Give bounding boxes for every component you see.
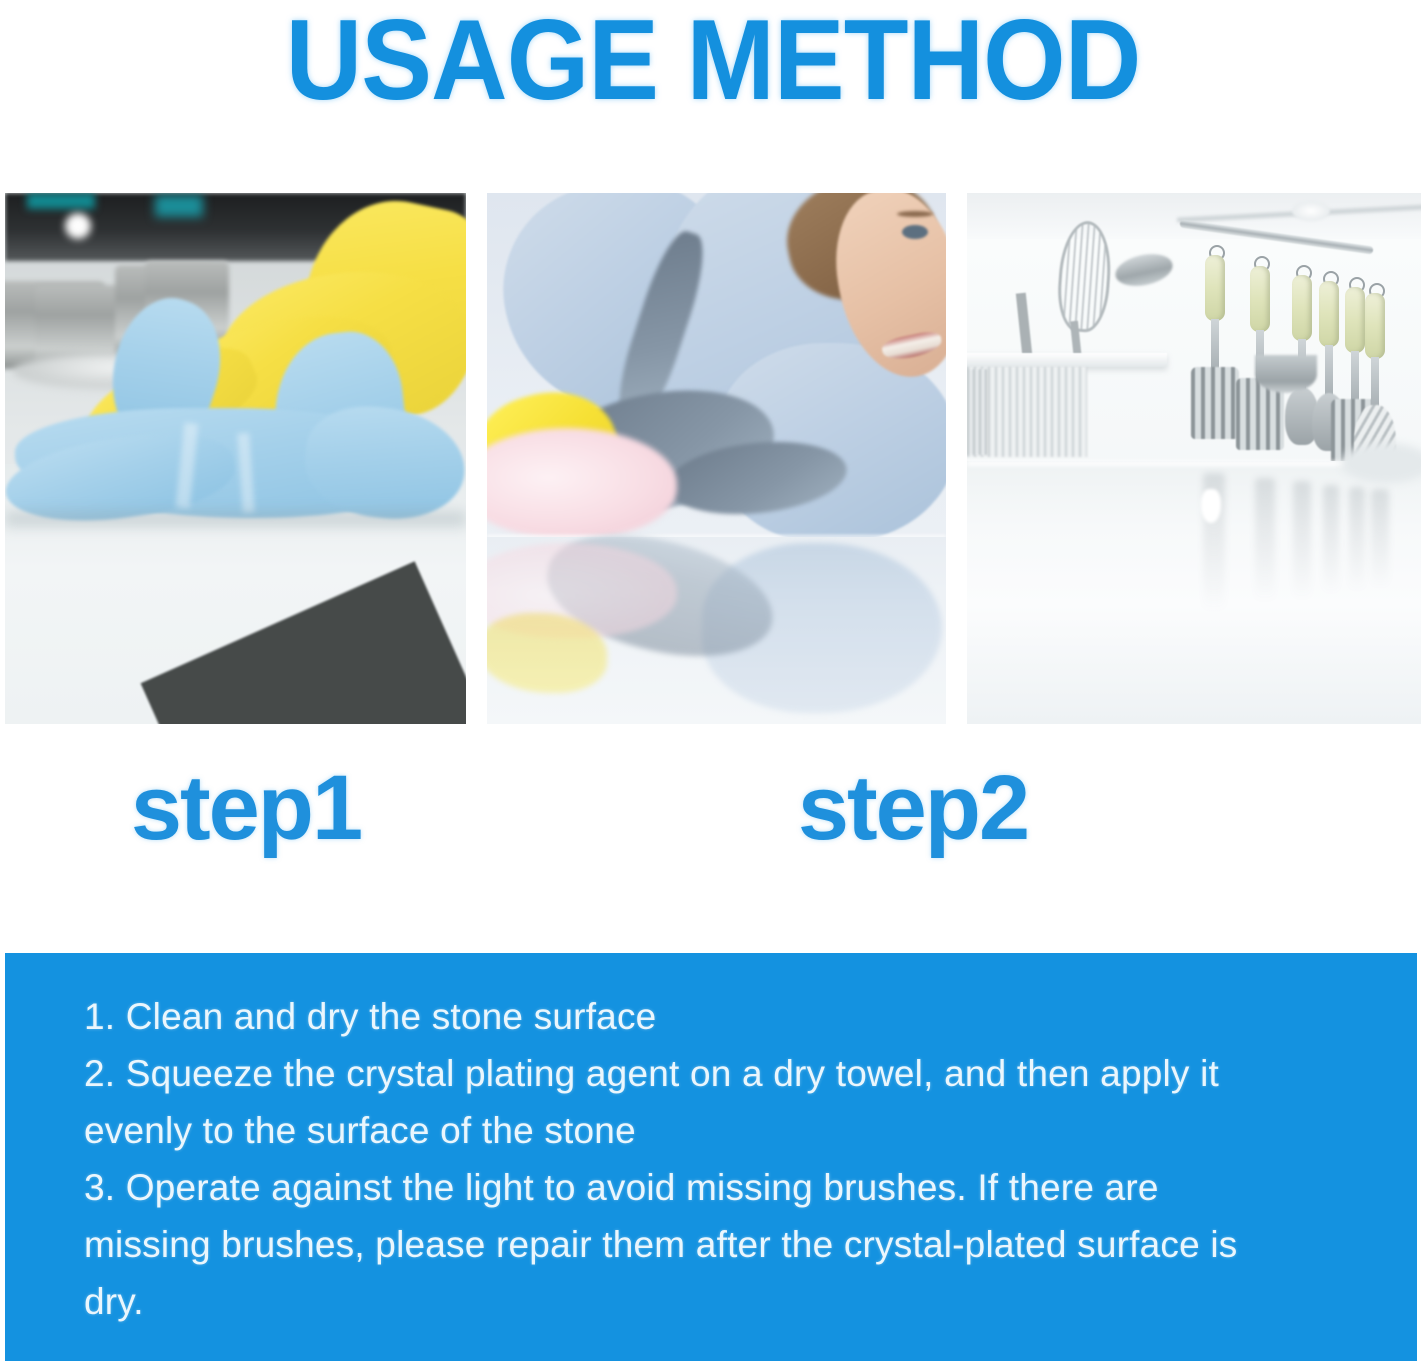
utensil-head: [1191, 367, 1239, 439]
utensil-reflection: [1293, 481, 1311, 601]
utensil-neck: [1371, 357, 1379, 409]
page-title: USAGE METHOD: [50, 0, 1376, 120]
utensil-holder-icon: [967, 369, 987, 455]
steps-photo-strip: [5, 193, 1421, 724]
photo-step1-wiping-counter-with-cloth: [5, 193, 466, 724]
instruction-line-4: 3. Operate against the light to avoid mi…: [84, 1159, 1347, 1216]
instruction-line-6: dry.: [84, 1273, 1347, 1330]
step-label-2: step2: [672, 752, 1209, 864]
utensil-handle: [1250, 266, 1270, 332]
utensil-neck: [1325, 345, 1333, 397]
utensil-handle: [1205, 255, 1225, 321]
instruction-line-1: 1. Clean and dry the stone surface: [84, 988, 1347, 1045]
utensil-neck: [1351, 351, 1359, 403]
strainer-icon: [1255, 355, 1317, 393]
countertop-glint: [1201, 489, 1221, 523]
utensil-handle: [1365, 293, 1385, 359]
utensil-handle: [1292, 275, 1312, 341]
utensil-reflection: [1323, 485, 1339, 595]
instruction-line-5: missing brushes, please repair them afte…: [84, 1216, 1347, 1273]
highlight-glare: [65, 213, 91, 239]
utensil-reflection: [1255, 478, 1275, 603]
utensil-reflection: [1371, 489, 1389, 589]
utensil-reflection: [1349, 487, 1365, 592]
photo-step3-finished-glossy-kitchen: [967, 193, 1421, 724]
counter-far-edge: [1341, 443, 1421, 483]
teal-appliance-accent-2-icon: [155, 195, 203, 217]
instruction-line-3: evenly to the surface of the stone: [84, 1102, 1347, 1159]
step-label-3: step3: [1209, 752, 1426, 864]
wall-shelf: [967, 353, 1167, 367]
downlight-icon: [1292, 201, 1330, 221]
photo-step2-applying-agent: [487, 193, 946, 724]
cloth-shadow: [5, 511, 466, 527]
utensil-neck: [1211, 319, 1219, 371]
step-labels-row: step1 step2 step3: [5, 752, 1421, 864]
slotted-spatula-icon: [967, 193, 1018, 275]
step-label-1: step1: [5, 752, 672, 864]
utensil-handle: [1319, 281, 1339, 347]
instruction-line-2: 2. Squeeze the crystal plating agent on …: [84, 1045, 1347, 1102]
instructions-panel: 1. Clean and dry the stone surface 2. Sq…: [5, 953, 1417, 1361]
teal-appliance-accent-icon: [27, 193, 95, 209]
utensil-handle: [1345, 287, 1365, 353]
eyebrow: [897, 211, 933, 217]
eye-icon: [902, 225, 928, 239]
